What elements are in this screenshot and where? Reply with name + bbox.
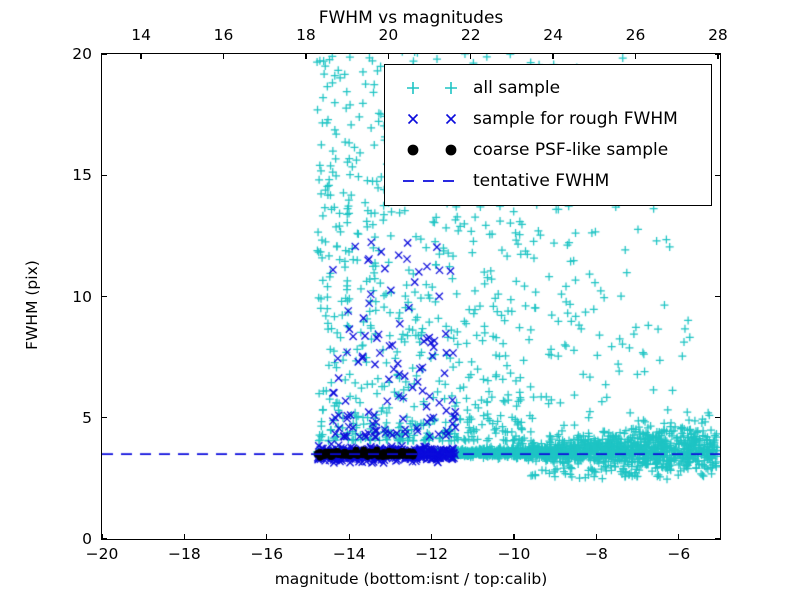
top-axis-tick-label: 22	[461, 26, 481, 44]
legend-label: tentative FWHM	[469, 171, 609, 191]
top-axis-tick	[305, 54, 306, 59]
top-axis-tick-label: 28	[708, 26, 728, 44]
top-axis-tick	[717, 54, 718, 59]
page-title: FWHM vs magnitudes	[101, 8, 721, 28]
top-axis-tick	[140, 54, 141, 59]
x-axis-tick	[678, 534, 679, 539]
x-axis-tick	[431, 534, 432, 539]
y-axis-tick-label: 5	[45, 409, 92, 427]
top-axis-tick-label: 20	[378, 26, 398, 44]
top-axis-tick	[223, 54, 224, 59]
right-axis-tick	[715, 296, 720, 297]
x-axis-tick-label: −10	[498, 545, 531, 563]
y-axis-tick	[102, 296, 107, 297]
y-axis-tick	[102, 175, 107, 176]
right-axis-tick	[715, 53, 720, 54]
y-axis-tick	[102, 538, 107, 539]
top-axis-tick	[388, 54, 389, 59]
cross-marker-icon	[395, 106, 469, 132]
legend-label: coarse PSF-like sample	[469, 140, 668, 160]
y-axis-tick-label: 20	[45, 45, 92, 63]
x-axis-tick-label: −12	[415, 545, 448, 563]
circle-marker-icon	[395, 137, 469, 163]
matplotlib-figure: FWHM vs magnitudes −20−18−16−14−12−10−8−…	[0, 0, 800, 600]
x-axis-tick	[349, 534, 350, 539]
legend-entry-all-sample: all sample	[395, 72, 701, 103]
x-axis-tick-label: −18	[168, 545, 201, 563]
top-axis-tick-label: 16	[214, 26, 234, 44]
x-axis-tick	[596, 534, 597, 539]
x-axis-tick-label: −6	[667, 545, 690, 563]
legend-label: all sample	[469, 78, 560, 98]
x-axis-tick-label: −8	[585, 545, 608, 563]
x-axis-label: magnitude (bottom:isnt / top:calib)	[101, 570, 721, 588]
y-axis-tick	[102, 53, 107, 54]
top-axis-tick-label: 14	[131, 26, 151, 44]
plus-marker-icon	[395, 75, 469, 101]
right-axis-tick	[715, 175, 720, 176]
y-axis-tick-label: 15	[45, 166, 92, 184]
top-axis-tick	[552, 54, 553, 59]
y-axis-tick	[102, 417, 107, 418]
top-axis-tick	[635, 54, 636, 59]
y-axis-label: FWHM (pix)	[23, 215, 41, 395]
x-axis-tick	[513, 534, 514, 539]
right-axis-tick	[715, 538, 720, 539]
legend-entry-tentative-fwhm: tentative FWHM	[395, 165, 701, 196]
legend: all sample sample for rough FWHM	[384, 64, 712, 206]
top-axis-tick	[470, 54, 471, 59]
top-axis-tick-label: 24	[543, 26, 563, 44]
legend-entry-rough-fwhm: sample for rough FWHM	[395, 103, 701, 134]
x-axis-tick	[266, 534, 267, 539]
x-axis-tick-label: −14	[333, 545, 366, 563]
legend-entry-coarse-psf: coarse PSF-like sample	[395, 134, 701, 165]
y-axis-tick-label: 10	[45, 288, 92, 306]
dashed-line-marker-icon	[395, 168, 469, 194]
top-axis-tick-label: 18	[296, 26, 316, 44]
x-axis-tick	[184, 534, 185, 539]
y-axis-tick-label: 0	[45, 530, 92, 548]
top-axis-tick-label: 26	[626, 26, 646, 44]
legend-label: sample for rough FWHM	[469, 109, 678, 129]
x-axis-tick-label: −16	[250, 545, 283, 563]
right-axis-tick	[715, 417, 720, 418]
